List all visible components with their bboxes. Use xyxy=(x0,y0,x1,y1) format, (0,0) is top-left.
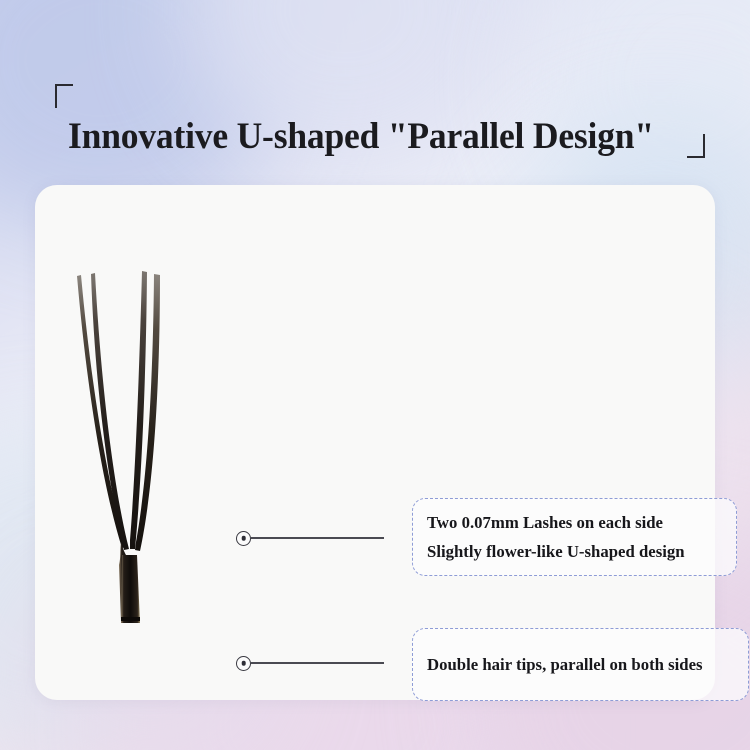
feature-callout-2: Double hair tips, parallel on both sides xyxy=(412,628,749,701)
lash-root-tip xyxy=(121,617,140,621)
feature-text: Double hair tips, parallel on both sides xyxy=(427,650,729,679)
feature-text: Slightly flower-like U-shaped design xyxy=(427,537,718,566)
connector-rule xyxy=(251,537,384,539)
title-block: Innovative U-shaped "Parallel Design" xyxy=(55,84,705,156)
page-title: Innovative U-shaped "Parallel Design" xyxy=(68,115,654,158)
feature-text: Two 0.07mm Lashes on each side xyxy=(427,508,718,537)
corner-bracket-top-left-icon xyxy=(55,84,73,108)
lash-product-image xyxy=(65,265,235,665)
bullet-dot-icon xyxy=(236,656,251,671)
feature-callout-1: Two 0.07mm Lashes on each side Slightly … xyxy=(412,498,737,576)
lash-root-band xyxy=(121,555,140,623)
connector-line-1 xyxy=(236,531,384,545)
corner-bracket-bottom-right-icon xyxy=(687,134,705,158)
content-card: Two 0.07mm Lashes on each side Slightly … xyxy=(35,185,715,700)
poster-root: Innovative U-shaped "Parallel Design" xyxy=(0,0,750,750)
connector-rule xyxy=(251,662,384,664)
bullet-dot-icon xyxy=(236,531,251,546)
connector-line-2 xyxy=(236,656,384,670)
